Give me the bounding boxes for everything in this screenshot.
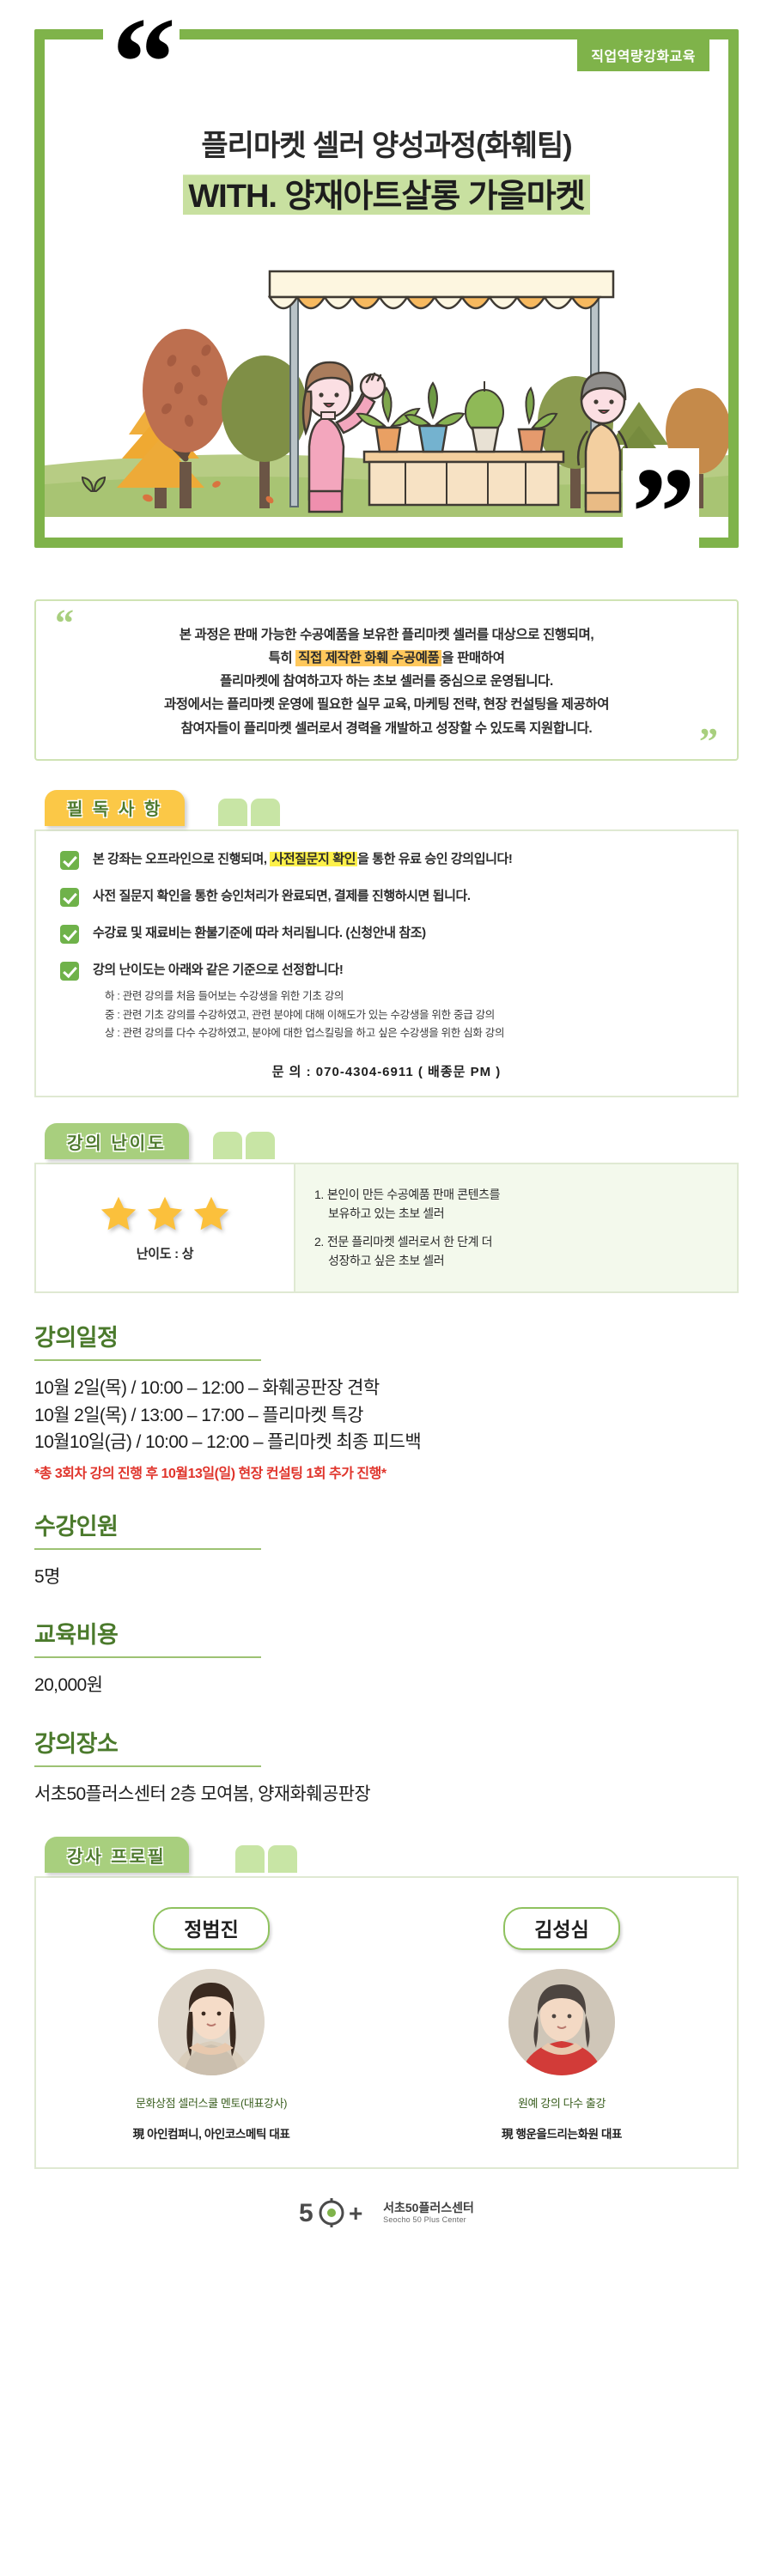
contact-info: 문 의 : 070-4304-6911 ( 배종문 PM ) [60,1062,713,1080]
check-item: 강의 난이도는 아래와 같은 기준으로 선정합니다! [60,961,713,981]
place-title: 강의장소 [34,1725,739,1759]
star-icon [192,1194,230,1232]
tab-pip-6 [268,1845,297,1873]
must-read-tab-label: 필 독 사 항 [45,790,185,826]
check-item: 사전 질문지 확인을 통한 승인처리가 완료되면, 결제를 진행하시면 됩니다. [60,887,713,907]
instructor-description: 문화상점 셀러스쿨 멘토(대표강사) [136,2094,287,2111]
place-section: 강의장소 서초50플러스센터 2층 모여봄, 양재화훼공판장 [34,1699,739,1808]
difficulty-panel: 난이도 : 상 1.본인이 만든 수공예품 판매 콘텐츠를보유하고 있는 초보 … [34,1163,739,1293]
instructor-role: 現 아인컴퍼니, 아인코스메틱 대표 [133,2124,290,2142]
instructor-profiles: 정범진 문화상점 셀러스쿨 멘토(대표강사) 現 아인컴퍼니, 아인코 [34,1876,739,2169]
instructor-card: 정범진 문화상점 셀러스쿨 멘토(대표강사) 現 아인컴퍼니, 아인코 [36,1907,386,2142]
difficulty-criteria-mid: 중 : 관련 기초 강의를 수강하였고, 관련 분야에 대해 이해도가 있는 수… [105,1006,713,1025]
instructor-avatar [158,1969,265,2075]
tab-pip-2 [251,799,280,826]
footer-center-name: 서초50플러스센터 Seocho 50 Plus Center [383,2201,474,2226]
target-item: 2.전문 플리마켓 셀러로서 한 단계 더성장하고 싶은 초보 셀러 [314,1233,718,1270]
schedule-line-2: 10월 2일(목) / 13:00 – 17:00 – 플리마켓 특강 [34,1402,739,1430]
capacity-section: 수강인원 5명 [34,1482,739,1591]
star-icon [100,1194,137,1232]
check-icon [60,962,79,981]
category-badge: 직업역량강화교육 [577,39,709,71]
schedule-section: 강의일정 10월 2일(목) / 10:00 – 12:00 – 화훼공판장 견… [34,1293,739,1482]
must-read-tab-header: 필 독 사 항 [34,790,739,829]
description-line-5: 참여자들이 플리마켓 셀러로서 경력을 개발하고 성장할 수 있도록 지원합니다… [53,717,720,740]
description-quote-open-icon: “ [55,605,74,642]
tab-pip-1 [218,799,247,826]
instructor-card: 김성심 원예 강의 다수 출강 現 행운을드리는화원 대표 [386,1907,737,2142]
hero-section: “ 직업역량강화교육 플리마켓 셀러 양성과정(화훼팀) WITH. 양재아트살… [34,0,739,548]
check-icon [60,925,79,944]
footer-name-en: Seocho 50 Plus Center [383,2215,474,2225]
must-read-panel: 본 강좌는 오프라인으로 진행되며, 사전질문지 확인을 통한 유료 승인 강의… [34,829,739,1098]
check-icon [60,851,79,870]
difficulty-criteria-list: 하 : 관련 강의를 처음 들어보는 수강생을 위한 기초 강의 중 : 관련 … [105,987,713,1044]
difficulty-tab-header: 강의 난이도 [34,1123,739,1163]
hero-titles: 플리마켓 셀러 양성과정(화훼팀) WITH. 양재아트살롱 가을마켓 [34,122,739,216]
fee-section: 교육비용 20,000원 [34,1590,739,1699]
difficulty-level-text: 난이도 : 상 [137,1244,193,1262]
instructor-avatar [508,1969,615,2075]
center-logo-icon: 5 + [299,2198,373,2227]
instructor-name: 김성심 [503,1907,619,1950]
description-line-4: 과정에서는 플리마켓 운영에 필요한 실무 교육, 마케팅 전략, 현장 컨설팅… [53,693,720,716]
quote-close-icon: ” [623,448,699,577]
check-item-text: 본 강좌는 오프라인으로 진행되며, 사전질문지 확인을 통한 유료 승인 강의… [93,850,513,868]
capacity-title: 수강인원 [34,1508,739,1541]
star-rating [100,1194,230,1232]
description-line-2-post: 을 판매하여 [441,651,504,665]
check-item: 본 강좌는 오프라인으로 진행되며, 사전질문지 확인을 통한 유료 승인 강의… [60,850,713,870]
difficulty-criteria-high: 상 : 관련 강의를 다수 수강하였고, 분야에 대한 업스킬링을 하고 싶은 … [105,1024,713,1043]
place-value: 서초50플러스센터 2층 모여봄, 양재화훼공판장 [34,1781,739,1808]
profile-tab-header: 강사 프로필 [34,1837,739,1876]
quote-open-icon: “ [103,0,180,127]
tab-pip-3 [213,1132,242,1159]
schedule-note: *총 3회차 강의 진행 후 10월13일(일) 현장 컨설팅 1회 추가 진행… [34,1461,739,1482]
check-item: 수강료 및 재료비는 환불기준에 따라 처리됩니다. (신청안내 참조) [60,924,713,944]
check-item-text: 사전 질문지 확인을 통한 승인처리가 완료되면, 결제를 진행하시면 됩니다. [93,887,471,905]
schedule-line-3: 10월10일(금) / 10:00 – 12:00 – 플리마켓 최종 피드백 [34,1429,739,1456]
description-line-2-pre: 특히 [268,651,295,665]
difficulty-criteria-low: 하 : 관련 강의를 처음 들어보는 수강생을 위한 기초 강의 [105,987,713,1006]
footer: 5 + 서초50플러스센터 Seocho 50 Plus Center [0,2198,773,2248]
target-item: 1.본인이 만든 수공예품 판매 콘텐츠를보유하고 있는 초보 셀러 [314,1186,718,1223]
footer-name-ko: 서초50플러스센터 [383,2201,474,2216]
description-line-2: 특히 직접 제작한 화훼 수공예품을 판매하여 [53,647,720,670]
target-audience: 1.본인이 만든 수공예품 판매 콘텐츠를보유하고 있는 초보 셀러 2.전문 … [294,1164,737,1291]
instructor-description: 원예 강의 다수 출강 [518,2094,606,2111]
difficulty-tab-label: 강의 난이도 [45,1123,189,1159]
check-item-text: 강의 난이도는 아래와 같은 기준으로 선정합니다! [93,961,343,979]
fee-value: 20,000원 [34,1672,739,1699]
instructor-role: 現 행운을드리는화원 대표 [502,2124,622,2142]
page-subtitle: WITH. 양재아트살롱 가을마켓 [183,169,589,216]
tab-pip-4 [246,1132,275,1159]
place-divider [34,1765,261,1767]
fee-title: 교육비용 [34,1616,739,1649]
svg-text:+: + [349,2200,362,2227]
schedule-line-1: 10월 2일(목) / 10:00 – 12:00 – 화훼공판장 견학 [34,1375,739,1402]
svg-text:5: 5 [299,2199,313,2227]
difficulty-rating: 난이도 : 상 [36,1164,294,1291]
capacity-divider [34,1548,261,1550]
fee-divider [34,1656,261,1658]
tab-pip-5 [235,1845,265,1873]
hero-inner: “ 직업역량강화교육 플리마켓 셀러 양성과정(화훼팀) WITH. 양재아트살… [34,29,739,548]
profile-tab-label: 강사 프로필 [45,1837,189,1873]
description-quote-close-icon: ” [699,723,718,761]
star-icon [146,1194,184,1232]
description-line-1: 본 과정은 판매 가능한 수공예품을 보유한 플리마켓 셀러를 대상으로 진행되… [53,623,720,647]
promo-page: “ 직업역량강화교육 플리마켓 셀러 양성과정(화훼팀) WITH. 양재아트살… [0,0,773,2576]
schedule-divider [34,1359,261,1361]
description-box: “ 본 과정은 판매 가능한 수공예품을 보유한 플리마켓 셀러를 대상으로 진… [34,599,739,761]
description-highlight: 직접 제작한 화훼 수공예품 [295,650,441,666]
check-item-text: 수강료 및 재료비는 환불기준에 따라 처리됩니다. (신청안내 참조) [93,924,426,942]
schedule-title: 강의일정 [34,1319,739,1352]
check-icon [60,888,79,907]
instructor-name: 정범진 [153,1907,269,1950]
check-highlight: 사전질문지 확인 [270,852,357,866]
description-line-3: 플리마켓에 참여하고자 하는 초보 셀러를 중심으로 운영됩니다. [53,670,720,693]
capacity-value: 5명 [34,1564,739,1591]
